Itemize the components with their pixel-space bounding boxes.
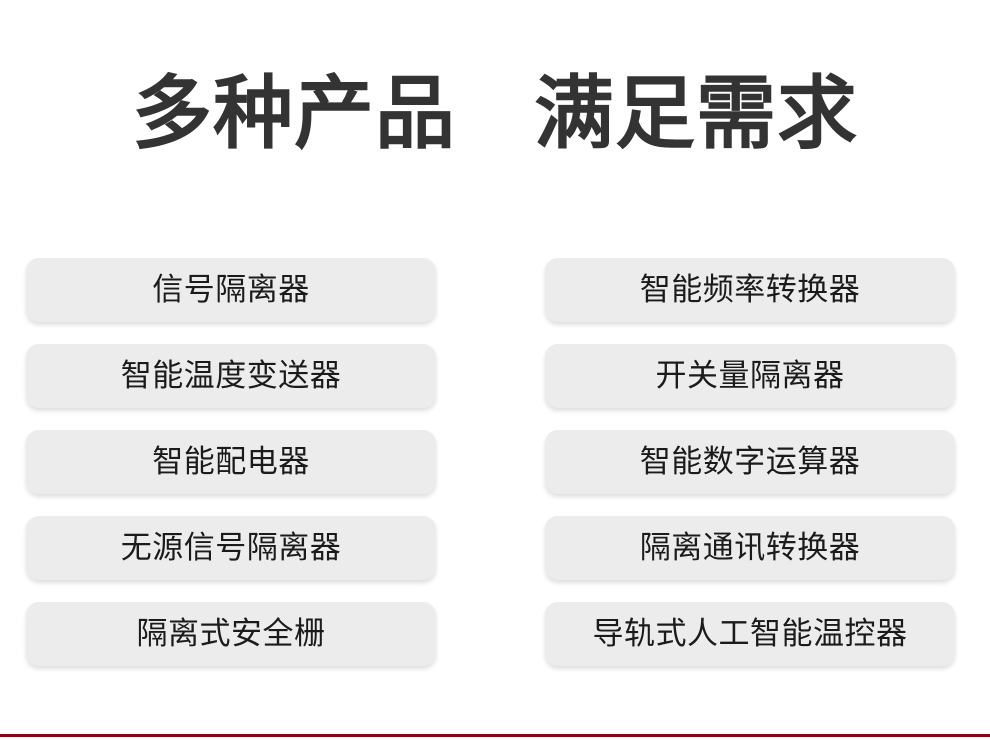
product-label: 无源信号隔离器: [121, 531, 342, 565]
product-item[interactable]: 隔离通讯转换器: [545, 516, 955, 580]
product-item[interactable]: 智能配电器: [26, 430, 436, 494]
product-item[interactable]: 智能温度变送器: [26, 344, 436, 408]
product-item[interactable]: 隔离式安全栅: [26, 602, 436, 666]
product-item[interactable]: 信号隔离器: [26, 258, 436, 322]
page-title: 多种产品满足需求: [0, 66, 990, 162]
product-label: 智能温度变送器: [121, 359, 342, 393]
product-item[interactable]: 开关量隔离器: [545, 344, 955, 408]
product-column-right: 智能频率转换器 开关量隔离器 智能数字运算器 隔离通讯转换器 导轨式人工智能温控…: [545, 258, 955, 666]
page-title-part-1: 多种产品: [132, 69, 456, 158]
product-showcase-page: 多种产品满足需求 信号隔离器 智能温度变送器 智能配电器 无源信号隔离器 隔离式…: [0, 0, 990, 740]
product-label: 隔离通讯转换器: [640, 531, 861, 565]
product-label: 信号隔离器: [152, 273, 310, 307]
product-item[interactable]: 智能频率转换器: [545, 258, 955, 322]
product-label: 智能频率转换器: [640, 273, 861, 307]
product-label: 导轨式人工智能温控器: [593, 617, 908, 651]
product-item[interactable]: 智能数字运算器: [545, 430, 955, 494]
product-list-grid: 信号隔离器 智能温度变送器 智能配电器 无源信号隔离器 隔离式安全栅 智能频率转…: [26, 258, 955, 666]
product-label: 智能数字运算器: [640, 445, 861, 479]
product-item[interactable]: 导轨式人工智能温控器: [545, 602, 955, 666]
product-label: 智能配电器: [152, 445, 310, 479]
product-item[interactable]: 无源信号隔离器: [26, 516, 436, 580]
product-label: 隔离式安全栅: [137, 617, 326, 651]
bottom-accent-rule: [0, 734, 990, 737]
page-title-part-2: 满足需求: [534, 69, 858, 158]
product-label: 开关量隔离器: [656, 359, 845, 393]
product-column-left: 信号隔离器 智能温度变送器 智能配电器 无源信号隔离器 隔离式安全栅: [26, 258, 436, 666]
